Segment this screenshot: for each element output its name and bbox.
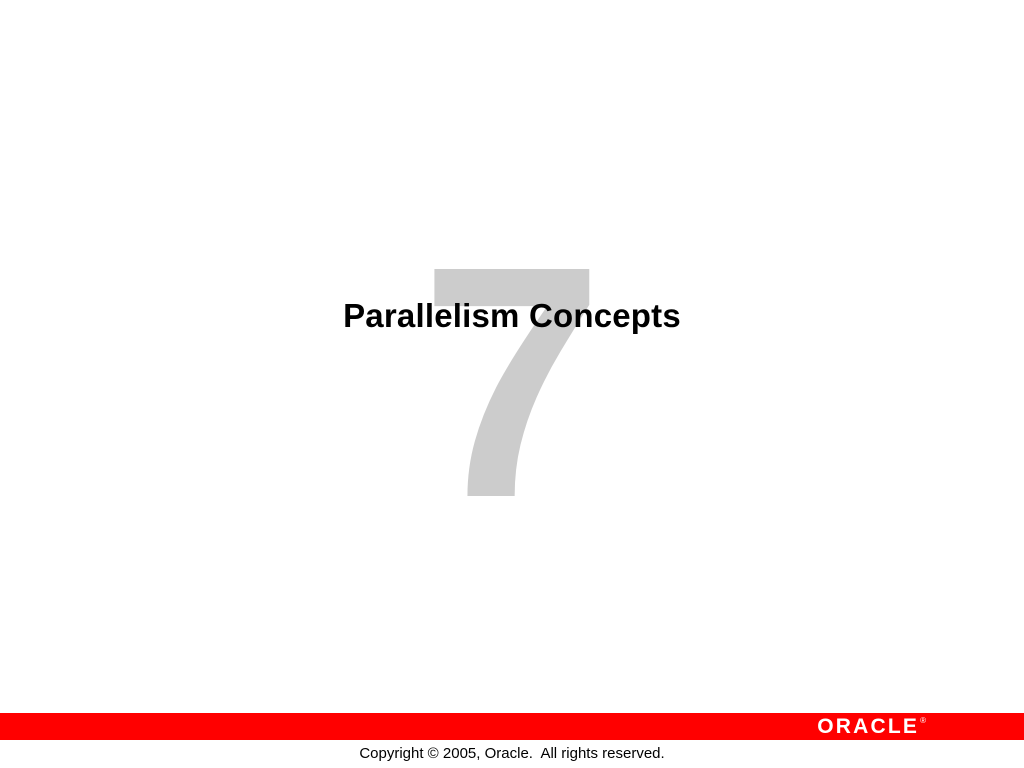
oracle-logo: ORACLE ® — [817, 715, 926, 738]
slide-canvas: 7 Parallelism Concepts ORACLE ® Copyrigh… — [0, 0, 1024, 768]
chapter-number-glyph: 7 — [420, 206, 604, 516]
title-block: Parallelism Concepts — [0, 296, 1024, 336]
registered-trademark-icon: ® — [920, 717, 926, 725]
chapter-number-watermark: 7 — [0, 206, 1024, 516]
slide-footer: ORACLE ® Copyright © 2005, Oracle. All r… — [0, 713, 1024, 768]
copyright-text: Copyright © 2005, Oracle. All rights res… — [0, 744, 1024, 764]
page-title: Parallelism Concepts — [343, 296, 681, 336]
oracle-wordmark: ORACLE — [817, 716, 919, 737]
